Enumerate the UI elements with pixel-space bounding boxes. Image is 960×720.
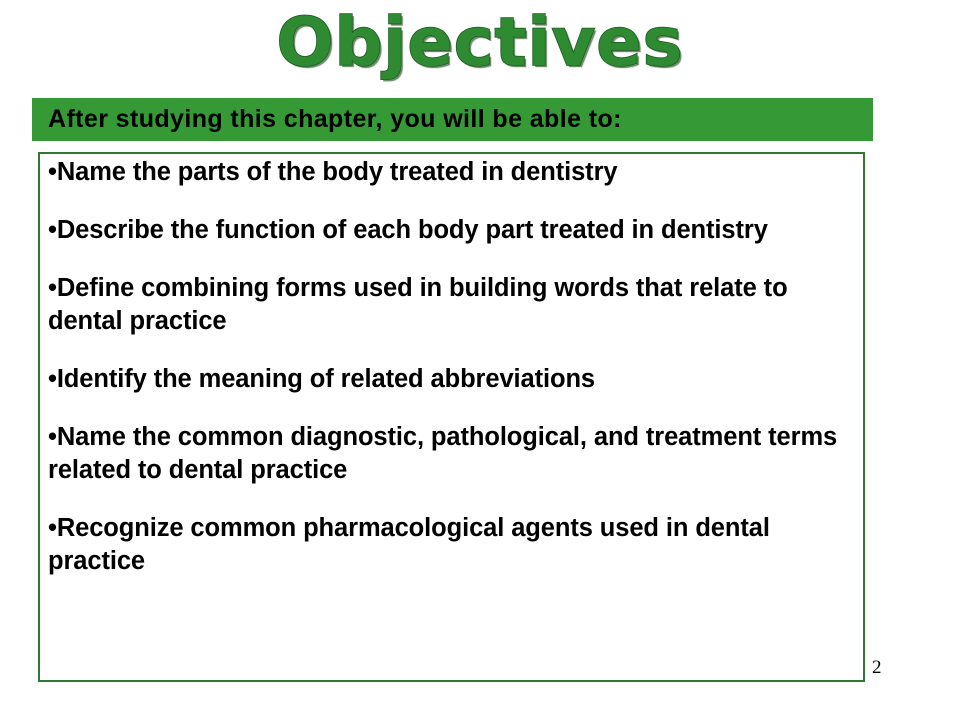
objectives-list: •Name the parts of the body treated in d…	[48, 156, 855, 578]
objectives-banner: After studying this chapter, you will be…	[32, 98, 873, 141]
list-item: •Define combining forms used in building…	[48, 272, 855, 338]
list-item: •Name the parts of the body treated in d…	[48, 156, 855, 189]
objectives-content-box: •Name the parts of the body treated in d…	[38, 152, 865, 682]
page-title: Objectives	[0, 4, 960, 80]
banner-label: After studying this chapter, you will be…	[48, 98, 622, 141]
list-item: •Name the common diagnostic, pathologica…	[48, 421, 855, 487]
list-item: •Recognize common pharmacological agents…	[48, 512, 855, 578]
list-item: •Describe the function of each body part…	[48, 214, 855, 247]
slide-canvas: Objectives After studying this chapter, …	[0, 0, 960, 720]
list-item: •Identify the meaning of related abbrevi…	[48, 363, 855, 396]
page-number: 2	[872, 657, 882, 679]
